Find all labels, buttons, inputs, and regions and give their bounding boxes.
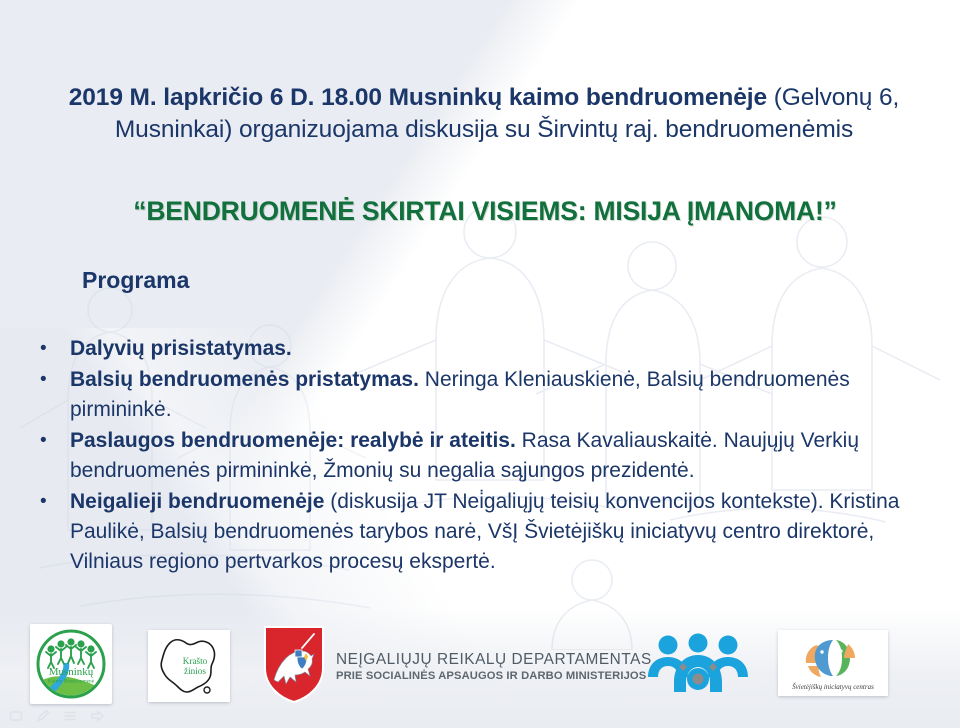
musninku-logo-name-line2: Kaimo Bendruomenė	[48, 679, 95, 685]
list-item: • Dalyvių prisistatymas.	[40, 334, 940, 364]
logo-vytis-coat-of-arms	[262, 624, 326, 704]
vytis-shield-icon	[262, 624, 326, 704]
musninku-logo-icon: Musninkų Kaimo Bendruomenė	[30, 624, 112, 704]
pen-icon[interactable]	[35, 708, 51, 724]
bullet-icon: •	[40, 426, 70, 456]
slide-main-title: “BENDRUOMENĖ SKIRTAI VISIEMS: MISIJA ĮMA…	[60, 196, 910, 227]
group-of-people-icon	[646, 632, 750, 694]
krasto-zinios-logo-icon: Krašto žinios	[148, 630, 230, 702]
menu-icon[interactable]	[62, 708, 78, 724]
agenda-item-text: Balsių bendruomenės pristatymas. Neringa…	[70, 365, 940, 425]
program-agenda-list: • Dalyvių prisistatymas. • Balsių bendru…	[40, 334, 940, 578]
agenda-item-lead: Paslaugos bendruomenėje: realybė ir atei…	[70, 429, 516, 452]
svietejisku-centras-logo-icon: Švietėjiškų iniciatyvų centras	[778, 630, 888, 696]
logo-neigaliuju-reikalu-departamentas: NEĮGALIŲJŲ REIKALŲ DEPARTAMENTAS PRIE SO…	[336, 651, 636, 682]
partner-logo-strip: Musninkų Kaimo Bendruomenė Krašto žinios	[0, 618, 960, 710]
krasto-zinios-line2: žinios	[184, 666, 206, 676]
slide-icon[interactable]	[8, 708, 24, 724]
agenda-item-lead: Balsių bendruomenės pristatymas.	[70, 368, 419, 391]
krasto-zinios-line1: Krašto	[183, 656, 208, 666]
program-heading: Programa	[82, 267, 189, 294]
nrd-title-line2: PRIE SOCIALINĖS APSAUGOS IR DARBO MINIST…	[336, 670, 636, 682]
headline-bold-part: 2019 M. lapkričio 6 D. 18.00 Musninkų ka…	[69, 84, 767, 111]
logo-people-group-icon	[646, 632, 750, 694]
list-item: • Balsių bendruomenės pristatymas. Nerin…	[40, 365, 940, 425]
svietejisku-centras-caption: Švietėjiškų iniciatyvų centras	[792, 683, 874, 691]
bullet-icon: •	[40, 487, 70, 517]
list-item: • Neigalieji bendruomenėje (diskusija JT…	[40, 487, 940, 577]
agenda-item-text: Paslaugos bendruomenėje: realybė ir atei…	[70, 426, 940, 486]
logo-musninku-kaimo-bendruomene: Musninkų Kaimo Bendruomenė	[30, 624, 112, 704]
bullet-icon: •	[40, 334, 70, 364]
agenda-item-text: Neigalieji bendruomenėje (diskusija JT N…	[70, 487, 940, 577]
agenda-item-lead: Neigalieji bendruomenėje	[70, 490, 324, 513]
bullet-icon: •	[40, 365, 70, 395]
nrd-title-line1: NEĮGALIŲJŲ REIKALŲ DEPARTAMENTAS	[336, 651, 636, 669]
musninku-logo-name-line1: Musninkų	[49, 666, 94, 678]
logo-krasto-zinios: Krašto žinios	[148, 630, 230, 702]
logo-svietejisku-iniciatyvu-centras: Švietėjiškų iniciatyvų centras	[778, 630, 888, 696]
next-arrow-icon[interactable]	[89, 708, 105, 724]
event-headline: 2019 M. lapkričio 6 D. 18.00 Musninkų ka…	[64, 82, 904, 147]
presentation-slide: 2019 M. lapkričio 6 D. 18.00 Musninkų ka…	[0, 0, 960, 728]
agenda-item-lead: Dalyvių prisistatymas.	[70, 337, 292, 360]
agenda-item-text: Dalyvių prisistatymas.	[70, 334, 940, 364]
presentation-viewer-toolbar[interactable]	[8, 708, 105, 724]
list-item: • Paslaugos bendruomenėje: realybė ir at…	[40, 426, 940, 486]
